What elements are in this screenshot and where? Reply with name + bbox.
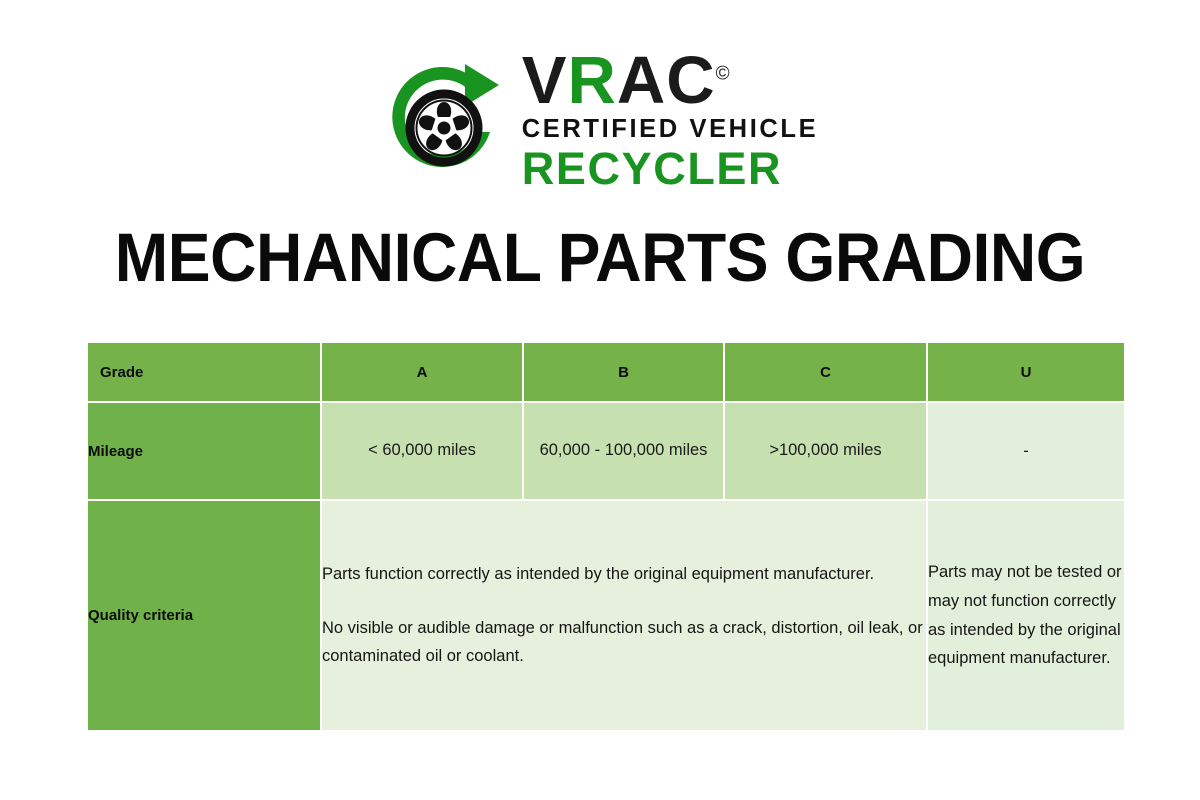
header-cell-grade-c: C	[725, 343, 926, 401]
table-row-quality-criteria: Quality criteria Parts function correctl…	[88, 501, 1124, 730]
table-row-mileage: Mileage < 60,000 miles 60,000 - 100,000 …	[88, 403, 1124, 499]
quality-criteria-paragraph-1: Parts function correctly as intended by …	[322, 560, 926, 588]
header-cell-grade: Grade	[88, 343, 320, 401]
row-label-quality-criteria: Quality criteria	[88, 501, 320, 730]
header-cell-grade-a: A	[322, 343, 522, 401]
logo-tagline-recycler: RECYCLER	[522, 145, 818, 192]
logo-inner: VRAC© CERTIFIED VEHICLE RECYCLER	[382, 52, 818, 194]
brand-r-accent: R	[568, 43, 617, 118]
logo-tagline-certified-vehicle: CERTIFIED VEHICLE	[522, 115, 818, 144]
header-cell-grade-b: B	[524, 343, 723, 401]
row-label-mileage: Mileage	[88, 403, 320, 499]
brand-ac: AC	[617, 43, 716, 118]
header-cell-grade-u: U	[928, 343, 1124, 401]
recycling-wheel-icon	[382, 58, 514, 194]
copyright-icon: ©	[716, 64, 731, 85]
cell-mileage-u: -	[928, 403, 1124, 499]
brand-name: VRAC©	[522, 52, 818, 111]
cell-quality-criteria-abc: Parts function correctly as intended by …	[322, 501, 926, 730]
cell-quality-criteria-u: Parts may not be tested or may not funct…	[928, 501, 1124, 730]
cell-mileage-a: < 60,000 miles	[322, 403, 522, 499]
brand-v: V	[522, 43, 568, 118]
mechanical-parts-grading-table: Grade A B C U Mileage < 60,000 miles 60,…	[86, 341, 1126, 732]
logo-wordmark: VRAC© CERTIFIED VEHICLE RECYCLER	[522, 52, 818, 192]
brand-logo: VRAC© CERTIFIED VEHICLE RECYCLER	[0, 52, 1200, 194]
cell-mileage-b: 60,000 - 100,000 miles	[524, 403, 723, 499]
page-title: MECHANICAL PARTS GRADING	[42, 218, 1158, 297]
table-header-row: Grade A B C U	[88, 343, 1124, 401]
quality-criteria-paragraph-2: No visible or audible damage or malfunct…	[322, 614, 926, 671]
cell-mileage-c: >100,000 miles	[725, 403, 926, 499]
